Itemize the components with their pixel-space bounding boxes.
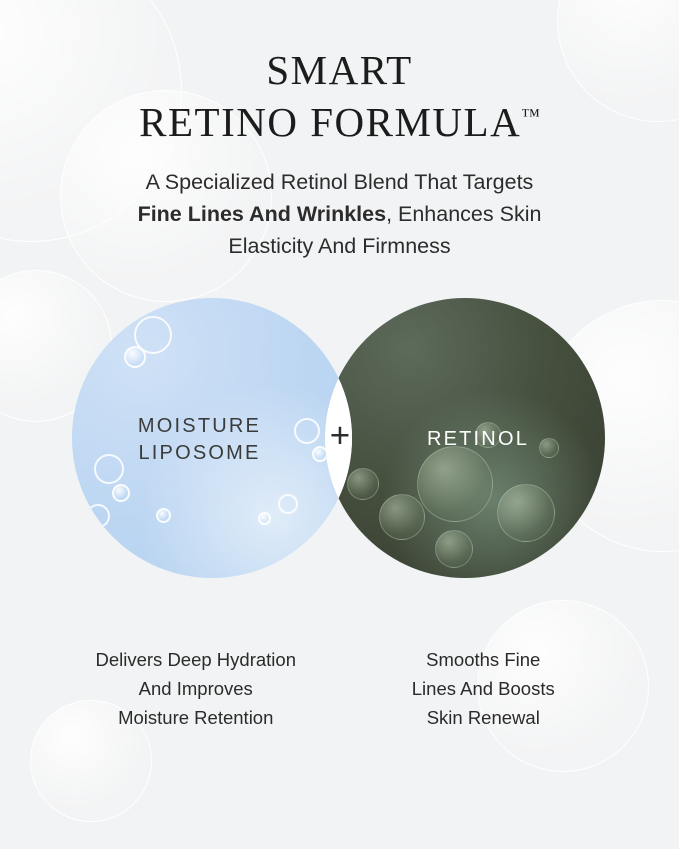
- plus-sign: +: [320, 416, 360, 456]
- subtitle-part-1: A Specialized Retinol Blend That Targets: [146, 170, 534, 194]
- page-content: SMART RETINO FORMULA™ A Specialized Reti…: [0, 0, 679, 732]
- right-caption: Smooths Fine Lines And Boosts Skin Renew…: [340, 646, 628, 732]
- left-caption: Delivers Deep Hydration And Improves Moi…: [52, 646, 340, 732]
- venn-diagram: MOISTURE LIPOSOME + RETINOL: [0, 288, 679, 588]
- bubble-icon: [156, 508, 171, 523]
- page-title-text: RETINO FORMULA: [139, 99, 521, 145]
- right-circle-label: RETINOL: [378, 426, 578, 453]
- subtitle-part-2: , Enhances Skin: [386, 202, 541, 226]
- left-circle-label: MOISTURE LIPOSOME: [92, 413, 307, 467]
- bubble-icon: [347, 468, 379, 500]
- bubble-icon: [417, 446, 493, 522]
- trademark-symbol: ™: [521, 106, 540, 127]
- page-subtitle: A Specialized Retinol Blend That Targets…: [60, 167, 620, 262]
- page-title-line-2: RETINO FORMULA™: [0, 96, 679, 148]
- subtitle-emphasis: Fine Lines And Wrinkles: [138, 202, 387, 226]
- bubble-icon: [86, 504, 110, 528]
- header-block: SMART RETINO FORMULA™ A Specialized Reti…: [0, 0, 679, 262]
- bubble-icon: [112, 484, 130, 502]
- bubble-icon: [258, 512, 271, 525]
- bubble-icon: [379, 494, 425, 540]
- subtitle-part-3: Elasticity And Firmness: [228, 234, 450, 258]
- bubble-icon: [278, 494, 298, 514]
- bubble-icon: [497, 484, 555, 542]
- bubble-icon: [435, 530, 473, 568]
- page-title-line-1: SMART: [0, 44, 679, 96]
- caption-row: Delivers Deep Hydration And Improves Moi…: [0, 646, 679, 732]
- bubble-icon: [124, 346, 146, 368]
